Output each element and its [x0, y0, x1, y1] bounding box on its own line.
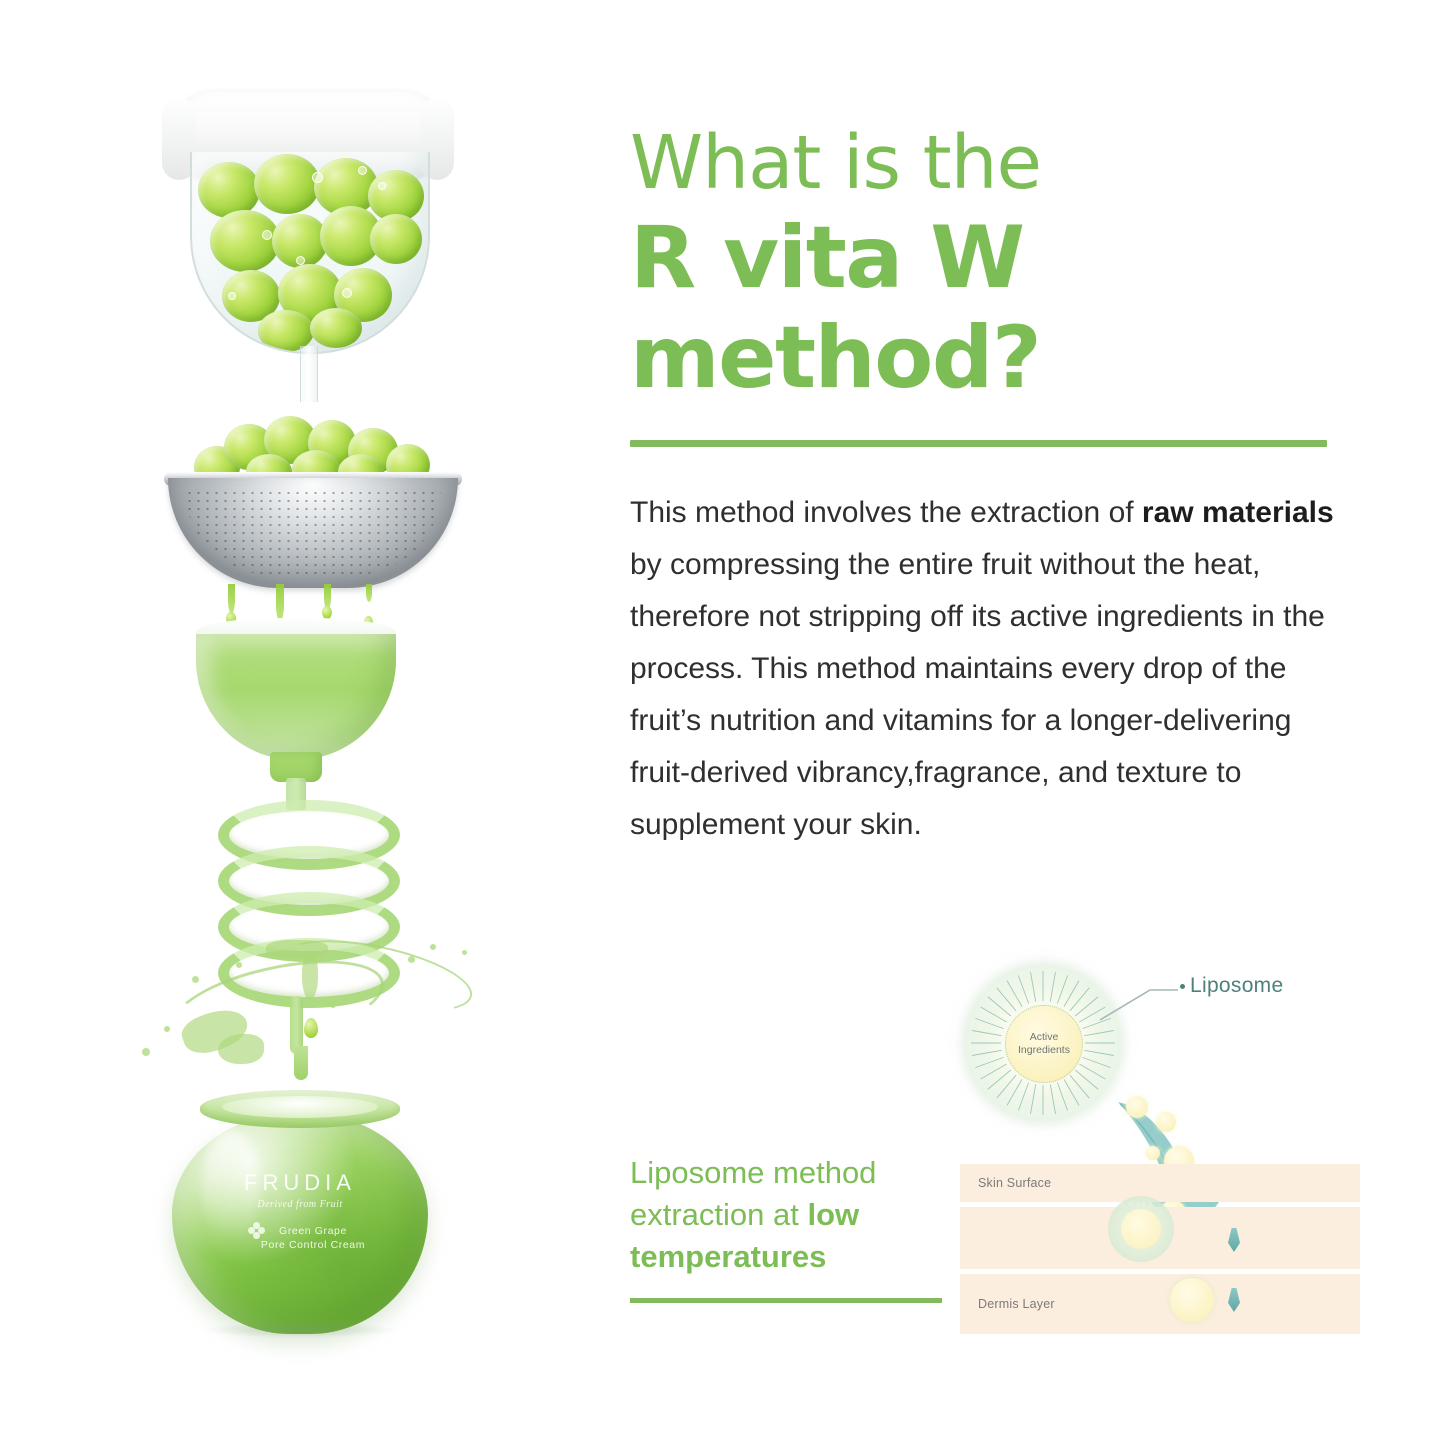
liposome-core-label: Active Ingredients: [1006, 1031, 1082, 1057]
body-text-bold: raw materials: [1142, 496, 1334, 529]
product-jar-illustration: FRUDIA Derived from Fruit Green Grape Po…: [172, 1090, 428, 1340]
jar-brand-name: FRUDIA: [172, 1170, 428, 1196]
headline-line-3: method?: [630, 308, 1390, 408]
headline-line-2: R vita W: [630, 208, 1390, 308]
skin-layer-row: Dermis Layer: [960, 1274, 1360, 1334]
caption-divider: [630, 1298, 942, 1303]
liposome-label-bullet: [1180, 984, 1185, 989]
liposome-caption: Liposome method extraction at low temper…: [630, 1152, 950, 1303]
jar-rim-inner: [222, 1096, 378, 1118]
jar-label: FRUDIA Derived from Fruit Green Grape Po…: [172, 1170, 428, 1252]
skin-layer-row: Skin Surface: [960, 1164, 1360, 1202]
body-paragraph: This method involves the extraction of r…: [630, 487, 1342, 851]
liposome-sphere: Active Ingredients: [964, 964, 1122, 1122]
flower-icon: [248, 1222, 266, 1240]
jar-product-line-2: Pore Control Cream: [198, 1238, 428, 1252]
headline-divider: [630, 440, 1327, 447]
caption-text: Liposome method extraction at low temper…: [630, 1152, 950, 1278]
jar-tagline: Derived from Fruit: [172, 1199, 428, 1210]
liposome-in-skin: [1108, 1196, 1174, 1262]
funnel-spout: [300, 346, 318, 402]
liposome-core: Active Ingredients: [1005, 1005, 1083, 1083]
body-text-part-2: by compressing the entire fruit without …: [630, 548, 1325, 841]
active-ingredient-in-dermis: [1170, 1278, 1214, 1322]
skin-layer-label: Skin Surface: [978, 1176, 1051, 1190]
jar-shadow: [202, 1322, 398, 1338]
poster-root: FRUDIA Derived from Fruit Green Grape Po…: [0, 0, 1445, 1445]
liposome-skin-penetration-diagram: Active Ingredients: [960, 960, 1360, 1320]
funnel-bowl: [190, 152, 430, 354]
skin-layer-label: Dermis Layer: [978, 1297, 1055, 1311]
process-illustration: FRUDIA Derived from Fruit Green Grape Po…: [0, 0, 600, 1445]
glass-funnel-with-grapes-illustration: [168, 90, 448, 410]
colander-bowl: [168, 478, 458, 588]
page-title: What is the R vita W method?: [630, 0, 1390, 408]
liposome-label: Liposome: [1190, 974, 1283, 998]
green-juice-bowl-illustration: [196, 618, 396, 818]
headline-line-1: What is the: [630, 0, 1390, 208]
metal-colander-illustration: [168, 416, 458, 616]
content-column: What is the R vita W method? This method…: [630, 0, 1390, 1445]
jar-product-line-1: Green Grape: [198, 1224, 428, 1238]
juice-bowl-body: [196, 634, 396, 760]
body-text-part-1: This method involves the extraction of: [630, 496, 1142, 529]
